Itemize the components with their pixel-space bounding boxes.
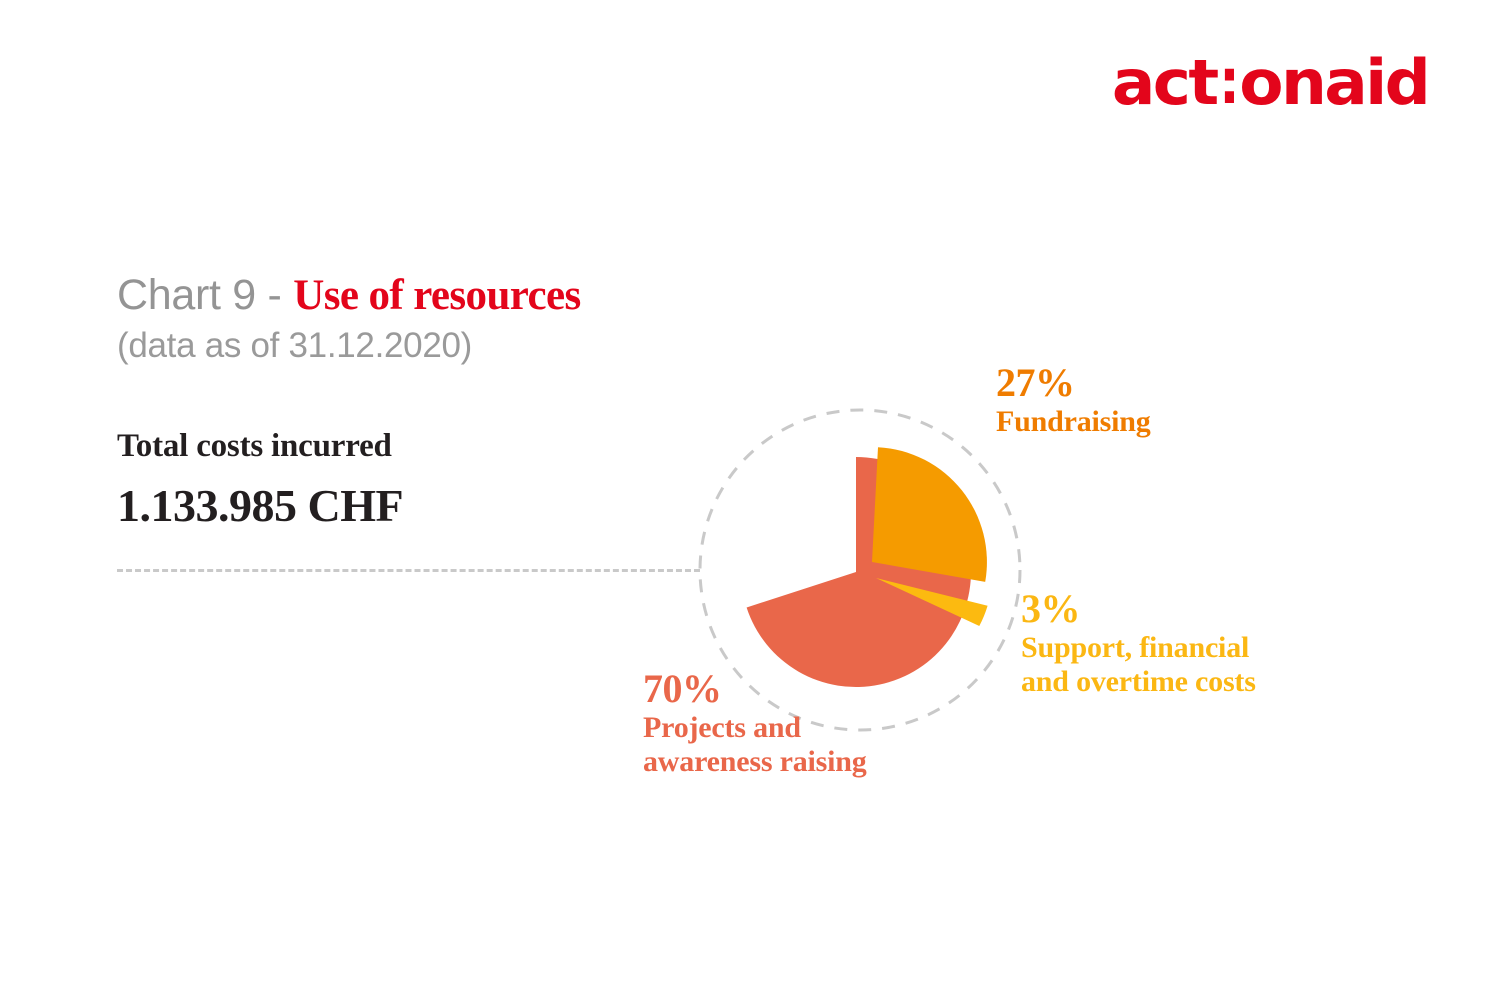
title-block: Chart 9 - Use of resources (data as of 3… [117,272,581,366]
total-costs-value: 1.133.985 CHF [117,479,403,532]
slice-name-fundraising: Fundraising [996,406,1151,438]
total-costs-label: Total costs incurred [117,428,403,465]
chart-number-label: Chart 9 - [117,271,293,319]
slice-name-support-line2: and overtime costs [1021,666,1256,698]
slice-percent-fundraising: 27% [996,362,1151,404]
logo-text-part1: act [1112,46,1217,119]
pie-slices [747,447,988,687]
slice-label-fundraising: 27% Fundraising [996,362,1151,438]
page-title: Chart 9 - Use of resources [117,272,581,319]
slice-label-support: 3% Support, financial and overtime costs [1021,588,1256,698]
chart-subtitle: (data as of 31.12.2020) [117,326,581,366]
slice-label-projects: 70% Projects and awareness raising [643,668,867,778]
slice-name-projects-line2: awareness raising [643,746,867,778]
chart-title-text: Use of resources [293,272,580,319]
dashed-connector-rule [117,569,700,572]
infographic-page: act:onaid Chart 9 - Use of resources (da… [0,0,1500,1000]
logo-colon-icon: : [1219,51,1237,113]
actionaid-logo: act:onaid [1112,52,1428,114]
total-costs-block: Total costs incurred 1.133.985 CHF [117,428,403,532]
logo-text-part2: onaid [1239,46,1428,119]
pie-slice-fundraising[interactable] [872,447,987,582]
slice-percent-projects: 70% [643,668,867,710]
slice-percent-support: 3% [1021,588,1256,630]
slice-name-support-line1: Support, financial [1021,632,1256,664]
slice-name-projects-line1: Projects and [643,712,867,744]
